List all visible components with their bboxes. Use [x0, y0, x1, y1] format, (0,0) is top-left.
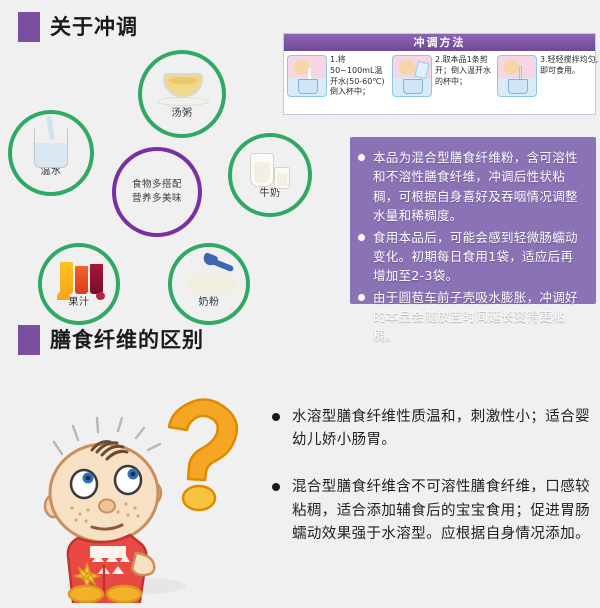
- food-circle-milk-powder: 奶粉: [168, 243, 250, 325]
- slogan-line-2: 营养多美味: [132, 192, 182, 206]
- water-glass-icon: [27, 128, 75, 165]
- confused-baby-illustration: [18, 388, 268, 603]
- instruction-step-text: 1.将50~100mL温开水(50-60℃)倒入杯中；: [330, 55, 390, 98]
- fiber-note-text: 食用本品后，可能会感到轻微肠蠕动变化。初期每日食用1袋，适应后再增加至2-3袋。: [373, 228, 584, 286]
- question-mark-icon: [169, 399, 237, 510]
- slogan-line-1: 食物多搭配: [132, 178, 182, 192]
- instructions-title: 冲调方法: [284, 34, 595, 51]
- food-circle-label: 奶粉: [199, 297, 220, 309]
- center-circle-slogan: 食物多搭配 营养多美味: [112, 147, 202, 237]
- bullet-dot-icon: [358, 154, 365, 161]
- instruction-step-text: 2.取本品1条剪开；倒入温开水的杯中；: [435, 55, 495, 87]
- list-item: 水溶型膳食纤维性质温和，刺激性小；适合婴幼儿娇小肠胃。: [272, 406, 592, 452]
- pour-sachet-icon: [392, 55, 432, 97]
- instruction-step-3: 3.轻轻搅拌均匀,即可食用。: [497, 55, 600, 97]
- list-item: 食用本品后，可能会感到轻微肠蠕动变化。初期每日食用1袋，适应后再增加至2-3袋。: [358, 228, 584, 286]
- milk-jug-icon: [246, 151, 293, 187]
- list-item: 混合型膳食纤维含不可溶性膳食纤维，口感较粘稠，适合添加辅食后的宝宝食用；促进胃肠…: [272, 476, 592, 546]
- pour-water-icon: [287, 55, 327, 97]
- fiber-note-text: 由于圆苞车前子壳吸水膨胀，冲调好的本品会随放置时间延长变得更粘稠。: [373, 288, 584, 346]
- instruction-step-1: 1.将50~100mL温开水(50-60℃)倒入杯中；: [287, 55, 390, 98]
- food-circle-label: 汤粥: [172, 108, 193, 120]
- section-heading-fiber-difference: 膳食纤维的区别: [18, 325, 204, 355]
- difference-note-text: 混合型膳食纤维含不可溶性膳食纤维，口感较粘稠，适合添加辅食后的宝宝食用；促进胃肠…: [292, 476, 592, 546]
- product-info-page: 关于冲调 汤粥 温水 牛奶 食物多搭配 营养多美味 果汁: [0, 0, 600, 608]
- juice-glasses-icon: [56, 260, 102, 296]
- mixing-instructions-panel: 冲调方法 1.将50~100mL温开水(50-60℃)倒入杯中； 2.取本品1条…: [283, 33, 596, 115]
- bullet-dot-icon: [272, 413, 280, 421]
- fiber-notes-box: 本品为混合型膳食纤维粉，含可溶性和不溶性膳食纤维，冲调后性状粘稠，可根据自身喜好…: [350, 137, 596, 304]
- bullet-dot-icon: [272, 483, 280, 491]
- section-title: 膳食纤维的区别: [50, 330, 204, 351]
- list-item: 本品为混合型膳食纤维粉，含可溶性和不溶性膳食纤维，冲调后性状粘稠，可根据自身喜好…: [358, 148, 584, 226]
- food-circle-warm-water: 温水: [8, 110, 94, 196]
- section-heading-about-mixing: 关于冲调: [18, 12, 138, 42]
- food-circle-soup: 汤粥: [138, 50, 226, 138]
- list-item: 由于圆苞车前子壳吸水膨胀，冲调好的本品会随放置时间延长变得更粘稠。: [358, 288, 584, 346]
- purple-square-marker-icon: [18, 12, 40, 42]
- food-circle-milk: 牛奶: [228, 133, 312, 217]
- bullet-dot-icon: [358, 294, 365, 301]
- milk-powder-scoop-icon: [186, 260, 232, 296]
- instruction-step-text: 3.轻轻搅拌均匀,即可食用。: [540, 55, 600, 77]
- soup-bowl-icon: [157, 69, 207, 107]
- bullet-dot-icon: [358, 234, 365, 241]
- section-title: 关于冲调: [50, 17, 138, 38]
- difference-note-text: 水溶型膳食纤维性质温和，刺激性小；适合婴幼儿娇小肠胃。: [292, 406, 592, 452]
- food-circle-juice: 果汁: [38, 243, 120, 325]
- instruction-step-2: 2.取本品1条剪开；倒入温开水的杯中；: [392, 55, 495, 97]
- fiber-note-text: 本品为混合型膳食纤维粉，含可溶性和不溶性膳食纤维，冲调后性状粘稠，可根据自身喜好…: [373, 148, 584, 226]
- stir-spoon-icon: [497, 55, 537, 97]
- fiber-difference-list: 水溶型膳食纤维性质温和，刺激性小；适合婴幼儿娇小肠胃。 混合型膳食纤维含不可溶性…: [272, 406, 592, 570]
- food-circle-label: 温水: [41, 166, 62, 178]
- purple-square-marker-icon: [18, 325, 40, 355]
